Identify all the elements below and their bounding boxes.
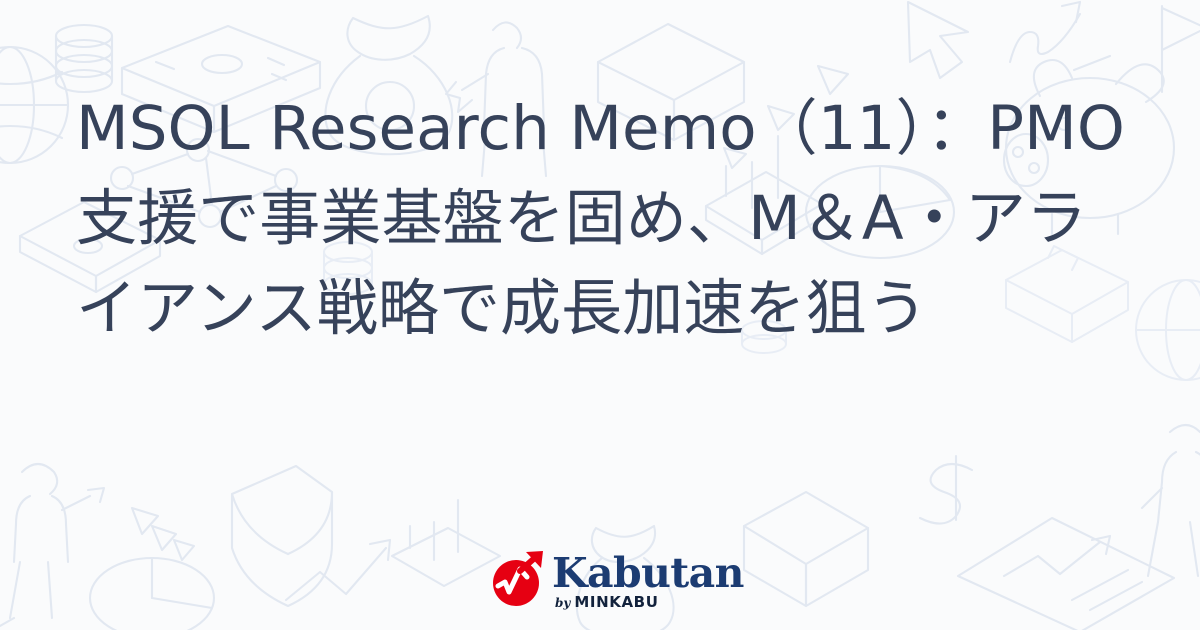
- line-chart-icon: [286, 540, 390, 600]
- kabutan-byline: by MINKABU: [555, 595, 658, 610]
- person-standing-icon: [0, 464, 104, 626]
- coin-stack-icon: [56, 25, 112, 92]
- dollar-sign-icon: [920, 456, 972, 524]
- bar-chart-icon: [392, 500, 500, 586]
- triangle-cursor-icon: [132, 508, 194, 560]
- globe-icon: [0, 47, 68, 163]
- shield-icon: [232, 466, 332, 606]
- byline-brand: MINKABU: [574, 595, 658, 610]
- byline-prefix: by: [555, 597, 570, 609]
- kabutan-rising-chart-icon: [490, 550, 548, 608]
- person-standing-icon: [1142, 425, 1200, 576]
- line-chart-document-icon: [958, 518, 1174, 630]
- kabutan-logo[interactable]: Kabutan by MINKABU: [490, 549, 710, 615]
- kabutan-logo-text: Kabutan by MINKABU: [552, 549, 744, 610]
- pie-chart-icon: [90, 558, 214, 630]
- globe-icon: [1136, 280, 1200, 380]
- og-card: MSOL Research Memo（11）：PMO支援で事業基盤を固め、M＆A…: [0, 0, 1200, 630]
- page-title: MSOL Research Memo（11）：PMO支援で事業基盤を固め、M＆A…: [76, 84, 1140, 354]
- arrow-up-icon: [1010, 2, 1080, 62]
- flag-icon: [1162, 6, 1200, 92]
- kabutan-wordmark: Kabutan: [552, 553, 744, 593]
- arrow-down-right-icon: [908, 2, 968, 78]
- building-icon: [744, 492, 868, 606]
